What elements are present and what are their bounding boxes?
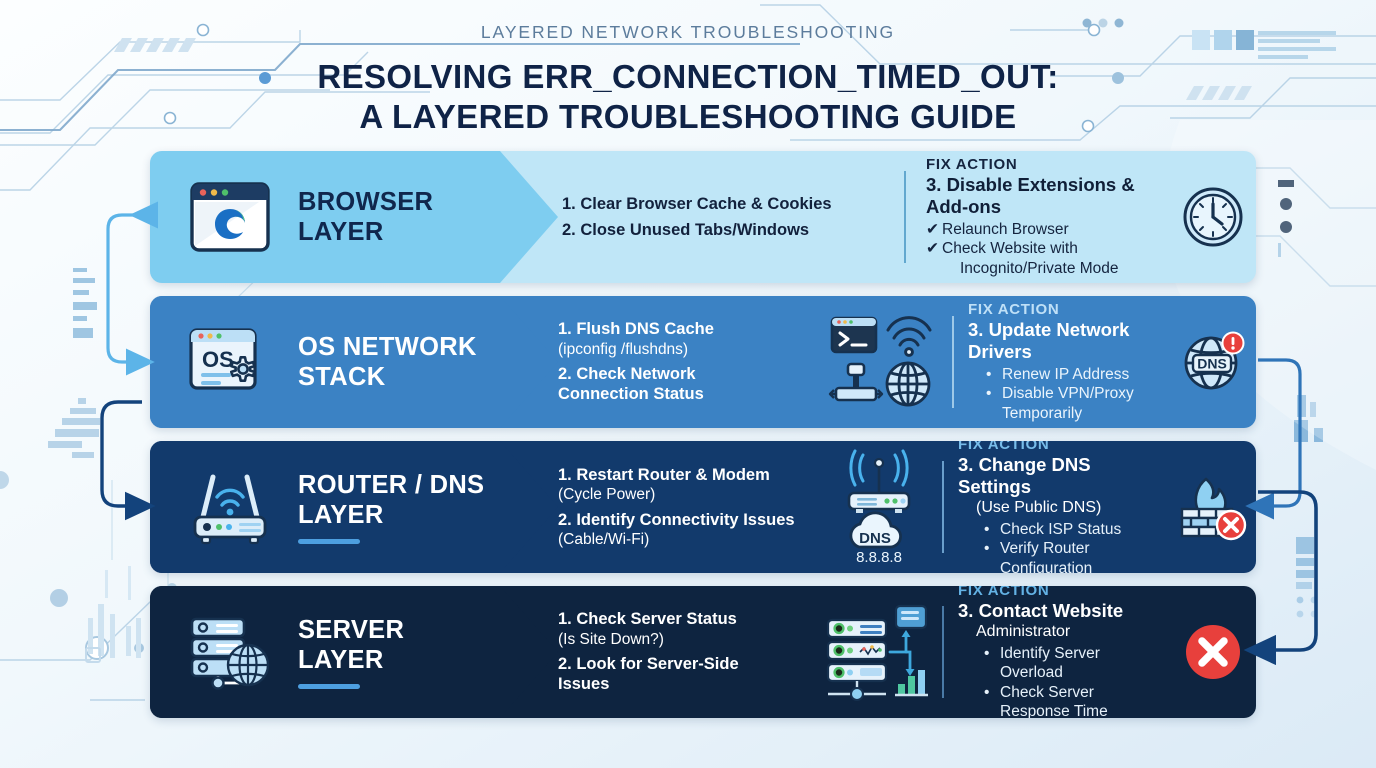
server-step-2-cont: Issues [558,675,609,693]
os-step-1: 1. Flush DNS Cache (ipconfig /flushdns) [558,319,816,359]
router-step-1: 1. Restart Router & Modem (Cycle Power) [558,465,816,505]
red-x-error-icon [1170,586,1256,718]
os-title-line1: OS NETWORK [298,333,477,361]
server-layer-title: SERVER LAYER [298,615,404,689]
bullet-icon: • [984,644,989,664]
browser-layer-title: BROWSER LAYER [298,187,433,247]
browser-fix-item-1-text: Relaunch Browser [942,221,1069,238]
browser-fix-action: FIX ACTION 3. Disable Extensions & Add-o… [900,151,1170,283]
dns-badge-label: DNS [1197,356,1227,372]
browser-fix-main: 3. Disable Extensions & Add-ons [926,174,1162,218]
network-switch-icon [830,364,882,400]
bar-chart-icon [895,670,928,695]
browser-fix-label: FIX ACTION [926,156,1162,173]
server-layer-row[interactable]: SERVER LAYER 1. Check Server Status (Is … [150,586,1256,718]
router-title-line1: ROUTER / DNS [298,471,484,499]
browser-fix-item-2-text: Check Website with [942,240,1078,257]
server-layer-header: SERVER LAYER [150,586,500,718]
router-title-underbar [298,539,360,544]
os-fix-action: FIX ACTION 3. Update Network Drivers • R… [948,296,1170,428]
server-title-line1: SERVER [298,616,404,644]
server-fix-item-1: • Identify Server Overload [984,644,1162,683]
server-step-1: 1. Check Server Status (Is Site Down?) [558,609,816,649]
server-title-underbar [298,684,360,689]
dns-globe-alert-icon: DNS [1170,296,1256,428]
browser-step-2: 2. Close Unused Tabs/Windows [562,220,896,240]
dns-ip-caption: 8.8.8.8 [856,549,902,565]
os-fix-item-2: • Disable VPN/Proxy Temporarily [986,384,1162,423]
server-step-2-text: 2. Look for Server-Side [558,655,739,673]
router-step-2-sub: (Cable/Wi-Fi) [558,530,816,549]
dns-cloud-icon: DNS [851,513,901,547]
os-fix-item-1: • Renew IP Address [986,365,1162,385]
server-step-1-sub: (Is Site Down?) [558,630,816,649]
server-fix-main-sub: Administrator [958,622,1162,641]
os-fix-label: FIX ACTION [968,301,1162,318]
server-fix-item-1-text: Identify Server Overload [1000,645,1100,682]
page-title-line-1: RESOLVING ERR_CONNECTION_TIMED_OUT: [317,58,1058,95]
browser-steps: 1. Clear Browser Cache & Cookies 2. Clos… [500,151,900,283]
router-step-1-sub: (Cycle Power) [558,485,816,504]
os-step-2-text: 2. Check Network [558,365,696,383]
router-step-2-text: 2. Identify Connectivity Issues [558,511,795,529]
clock-icon [1170,151,1256,283]
browser-fix-item-2-wrap: Incognito/Private Mode [942,259,1162,279]
os-step-2-cont: Connection Status [558,385,704,403]
browser-layer-header: BROWSER LAYER [150,151,500,283]
page-title: RESOLVING ERR_CONNECTION_TIMED_OUT: A LA… [0,57,1376,138]
router-step-2: 2. Identify Connectivity Issues (Cable/W… [558,510,816,550]
os-window-gear-icon: OS [184,325,276,399]
browser-fix-item-1: ✔ Relaunch Browser [926,220,1162,240]
router-fix-main: 3. Change DNS Settings (Use Public DNS) [958,454,1162,518]
server-fix-label: FIX ACTION [958,586,1162,599]
os-step-1-sub: (ipconfig /flushdns) [558,340,816,359]
router-layer-title: ROUTER / DNS LAYER [298,470,484,544]
server-fix-list: • Identify Server Overload • Check Serve… [958,644,1162,718]
server-step-2: 2. Look for Server-Side Issues [558,654,816,695]
globe-icon [887,363,929,405]
router-fix-main-sub: (Use Public DNS) [958,498,1162,517]
bullet-icon: • [984,520,989,540]
check-icon: ✔ [926,220,939,240]
svg-text:OS: OS [202,347,234,372]
os-title-line2: STACK [298,363,385,391]
server-step-1-text: 1. Check Server Status [558,610,737,628]
os-fix-item-1-text: Renew IP Address [1002,366,1129,383]
server-fix-item-2-text: Check Server Response Time [1000,684,1108,718]
bullet-icon: • [984,539,989,559]
router-fix-list: • Check ISP Status • Verify Router Confi… [958,520,1162,573]
os-step-2: 2. Check Network Connection Status [558,364,816,405]
router-fix-item-1-text: Check ISP Status [1000,521,1121,538]
router-icon-cluster: DNS 8.8.8.8 [820,441,938,573]
wifi-router-icon [184,469,276,545]
router-step-1-text: 1. Restart Router & Modem [558,466,770,484]
server-fix-item-2: • Check Server Response Time [984,683,1162,718]
browser-fix-item-2: ✔ Check Website with Incognito/Private M… [926,239,1162,278]
page-title-line-2: A LAYERED TROUBLESHOOTING GUIDE [359,98,1016,135]
router-fix-item-2-text: Verify Router Configuration [1000,540,1092,573]
server-fix-action: FIX ACTION 3. Contact Website Administra… [938,586,1170,718]
eyebrow-text: LAYERED NETWORK TROUBLESHOOTING [0,22,1376,43]
server-icon-cluster [820,586,938,718]
browser-title-line1: BROWSER [298,188,433,216]
browser-title-line2: LAYER [298,218,384,246]
layer-stack: BROWSER LAYER 1. Clear Browser Cache & C… [150,151,1256,718]
router-title-line2: LAYER [298,501,384,529]
database-icon [896,606,926,628]
firewall-blocked-icon [1170,441,1256,573]
os-network-stack-layer-row[interactable]: OS OS NETWORK STACK 1. Flush DNS Cache (… [150,296,1256,428]
os-fix-item-2-text: Disable VPN/Proxy Temporarily [1002,385,1134,422]
bullet-icon: • [984,683,989,703]
browser-step-1: 1. Clear Browser Cache & Cookies [562,194,896,214]
os-step-1-text: 1. Flush DNS Cache [558,320,714,338]
router-fix-main-text: 3. Change DNS Settings [958,454,1091,497]
server-rack-globe-icon [184,613,276,691]
check-icon: ✔ [926,239,939,259]
os-layer-header: OS OS NETWORK STACK [150,296,500,428]
terminal-icon [832,318,876,352]
wifi-signal-icon [888,318,930,356]
os-layer-title: OS NETWORK STACK [298,332,477,392]
router-fix-item-2: • Verify Router Configuration [984,539,1162,573]
router-dns-layer-row[interactable]: ROUTER / DNS LAYER 1. Restart Router & M… [150,441,1256,573]
server-fix-main: 3. Contact Website Administrator [958,600,1162,641]
browser-fix-list: ✔ Relaunch Browser ✔ Check Website with … [926,220,1162,279]
dns-cloud-label: DNS [859,530,891,547]
browser-layer-row[interactable]: BROWSER LAYER 1. Clear Browser Cache & C… [150,151,1256,283]
server-title-line2: LAYER [298,646,384,674]
router-fix-item-1: • Check ISP Status [984,520,1162,540]
os-fix-main: 3. Update Network Drivers [968,319,1162,363]
os-fix-list: • Renew IP Address • Disable VPN/Proxy T… [968,365,1162,424]
router-broadcast-icon [849,451,909,513]
os-icon-cluster [820,296,948,428]
edge-browser-window-icon [184,180,276,254]
router-fix-label: FIX ACTION [958,441,1162,453]
server-fix-main-text: 3. Contact Website [958,600,1123,621]
bullet-icon: • [986,384,991,404]
router-fix-action: FIX ACTION 3. Change DNS Settings (Use P… [938,441,1170,573]
page-header: LAYERED NETWORK TROUBLESHOOTING RESOLVIN… [0,0,1376,138]
router-layer-header: ROUTER / DNS LAYER [150,441,500,573]
bullet-icon: • [986,365,991,385]
